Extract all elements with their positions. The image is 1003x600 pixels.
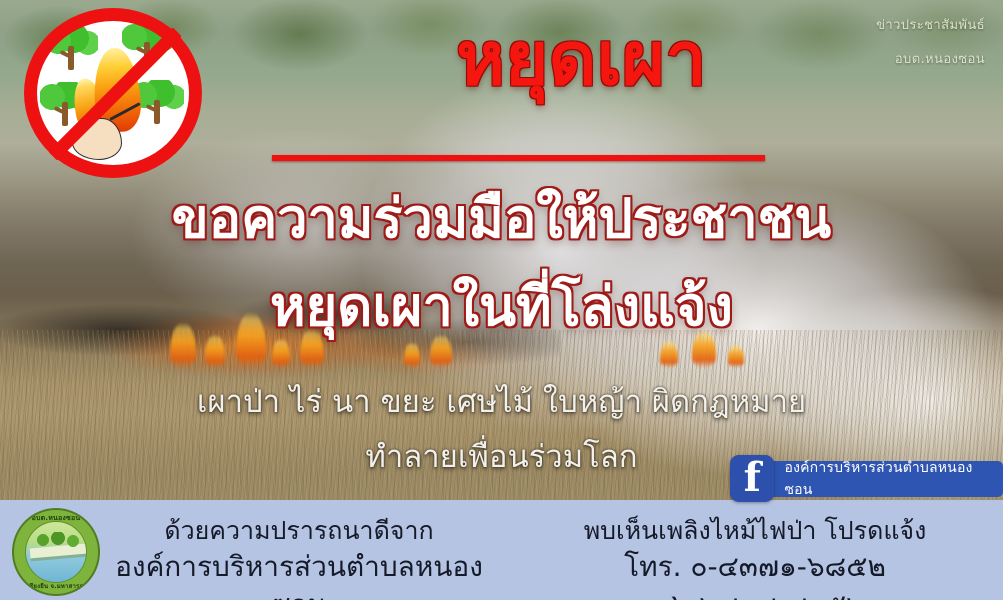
facebook-page-name[interactable]: องค์การบริหารส่วนตำบลหนองซอน — [764, 461, 1003, 497]
footer-phone-numbers: โทร. ๐-๔๓๗๑-๖๘๕๒ ,๐๖-๒๙๑๙-๙๑๕๒ — [520, 548, 990, 600]
subheadline-line-2: หยุดเผาในที่โล่งแจ้ง — [0, 278, 1003, 335]
page-title: หยุดเผา — [0, 22, 1003, 96]
footer-bar: อบต.หนองซอน อ.เชียงยืน จ.มหาสารคาม ด้วยค… — [0, 500, 1003, 600]
seal-top-text: อบต.หนองซอน — [14, 513, 98, 524]
subheadline-line-1: ขอความร่วมมือให้ประชาชน — [0, 190, 1003, 247]
footer-right-block: พบเห็นเพลิงไหม้ไฟป่า โปรดแจ้ง โทร. ๐-๔๓๗… — [520, 514, 990, 600]
note-line-1: เผาป่า ไร่ นา ขยะ เศษไม้ ใบหญ้า ผิดกฎหมา… — [0, 385, 1003, 419]
divider — [272, 155, 765, 161]
seal-bottom-text: อ.เชียงยืน จ.มหาสารคาม — [14, 581, 98, 591]
municipal-seal-icon: อบต.หนองซอน อ.เชียงยืน จ.มหาสารคาม — [12, 508, 100, 596]
facebook-icon[interactable] — [730, 455, 774, 502]
facebook-badge[interactable]: องค์การบริหารส่วนตำบลหนองซอน — [730, 455, 1003, 502]
footer-left-block: ด้วยความปรารถนาดีจาก องค์การบริหารส่วนตำ… — [104, 514, 494, 600]
public-awareness-poster: ข่าวประชาสัมพันธ์ อบต.หนองซอน หยุดเผา ขอ… — [0, 0, 1003, 600]
footer-left-line-1: ด้วยความปรารถนาดีจาก — [104, 514, 494, 548]
footer-right-line-1: พบเห็นเพลิงไหม้ไฟป่า โปรดแจ้ง — [520, 514, 990, 548]
footer-left-line-2: องค์การบริหารส่วนตำบลหนองซอน — [104, 548, 494, 600]
